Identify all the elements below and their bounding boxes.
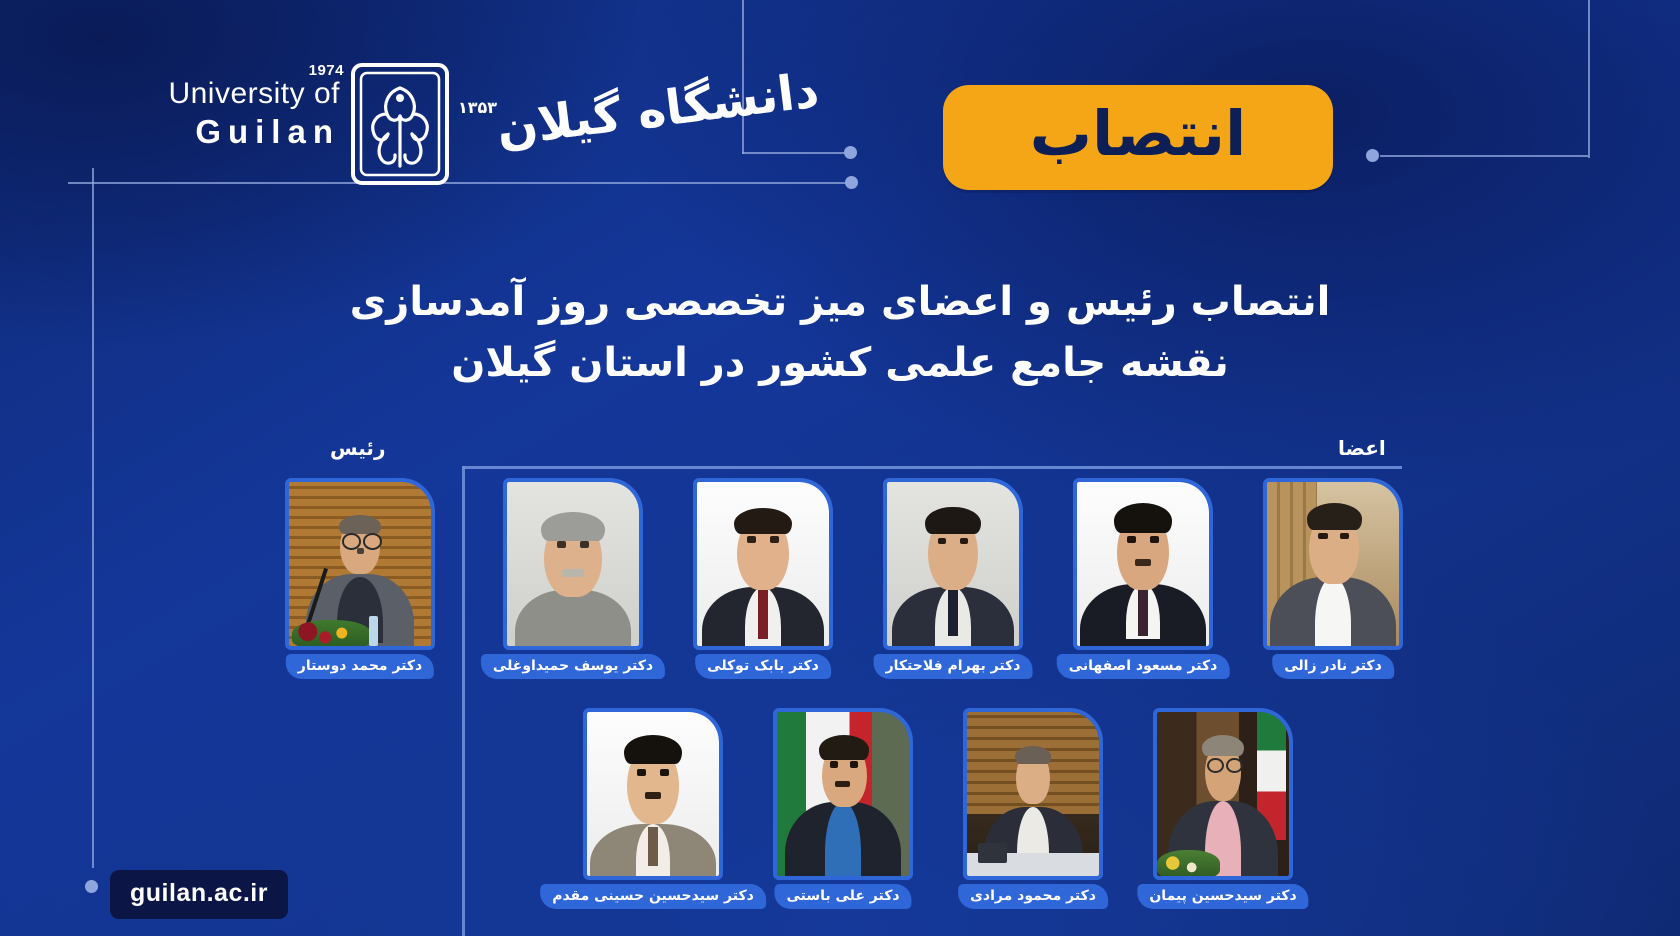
appointment-badge-label: انتصاب xyxy=(1030,103,1247,173)
logo-name-fa: دانشگاه گیلان xyxy=(494,62,822,157)
photo-frame xyxy=(1073,478,1213,650)
photo-frame xyxy=(693,478,833,650)
member-name: دکتر سیدحسین حسینی مقدم xyxy=(540,884,766,909)
member-photo xyxy=(1157,712,1289,876)
card-member-2[interactable]: دکتر بابک توکلی xyxy=(693,478,833,650)
photo-frame xyxy=(1263,478,1403,650)
deco-dot-a xyxy=(844,146,857,159)
card-member-8[interactable]: دکتر محمود مرادی xyxy=(963,708,1103,880)
photo-frame xyxy=(503,478,643,650)
chair-photo xyxy=(289,482,431,646)
photo-frame xyxy=(963,708,1103,880)
deco-line-top-right-horizontal xyxy=(742,152,846,154)
card-chair[interactable]: دکتر محمد دوستار xyxy=(285,478,435,650)
photo-frame xyxy=(583,708,723,880)
chair-group-label: رئیس xyxy=(330,436,385,460)
member-photo xyxy=(697,482,829,646)
logo-year-fa: ۱۳۵۳ xyxy=(458,98,497,117)
page-title-line1: انتصاب رئیس و اعضای میز تخصصی روز آمدساز… xyxy=(0,272,1680,333)
photo-frame xyxy=(1153,708,1293,880)
member-name: دکتر بابک توکلی xyxy=(695,654,831,679)
logo-persian-text: ۱۳۵۳ دانشگاه گیلان xyxy=(456,56,736,186)
guilan-emblem-icon xyxy=(350,62,450,186)
chair-name: دکتر محمد دوستار xyxy=(286,654,434,679)
member-name: دکتر بهرام فلاحتکار xyxy=(874,654,1033,679)
deco-line-far-right-horizontal xyxy=(1380,155,1588,157)
member-photo xyxy=(777,712,909,876)
deco-dot-b xyxy=(845,176,858,189)
deco-dot-c xyxy=(1366,149,1379,162)
logo-line2: Guilan xyxy=(150,113,340,151)
members-group-label: اعضا xyxy=(1338,436,1386,460)
member-photo xyxy=(967,712,1099,876)
member-name: دکتر یوسف حمیداوغلی xyxy=(481,654,665,679)
photo-frame xyxy=(773,708,913,880)
card-member-4[interactable]: دکتر مسعود اصفهانی xyxy=(1073,478,1213,650)
logo-english-text: 1974 University of Guilan xyxy=(150,78,340,150)
deco-dot-url xyxy=(85,880,98,893)
card-member-7[interactable]: دکتر علی باستی xyxy=(773,708,913,880)
page-title: انتصاب رئیس و اعضای میز تخصصی روز آمدساز… xyxy=(0,272,1680,394)
card-member-5[interactable]: دکتر نادر زالی xyxy=(1263,478,1403,650)
website-url-badge[interactable]: guilan.ac.ir xyxy=(110,870,288,919)
members-bracket-vertical xyxy=(462,466,465,936)
logo-year-en: 1974 xyxy=(309,62,344,79)
members-bracket-horizontal xyxy=(462,466,1402,469)
card-member-1[interactable]: دکتر یوسف حمیداوغلی xyxy=(503,478,643,650)
member-name: دکتر نادر زالی xyxy=(1272,654,1394,679)
poster-canvas: 1974 University of Guilan ۱۳۵۳ دانشگاه گ… xyxy=(0,0,1680,936)
member-photo xyxy=(887,482,1019,646)
university-logo: 1974 University of Guilan ۱۳۵۳ دانشگاه گ… xyxy=(150,60,730,190)
card-member-6[interactable]: دکتر سیدحسین حسینی مقدم xyxy=(583,708,723,880)
member-photo xyxy=(1267,482,1399,646)
card-member-3[interactable]: دکتر بهرام فلاحتکار xyxy=(883,478,1023,650)
appointment-badge: انتصاب xyxy=(943,85,1333,190)
logo-line1: University of xyxy=(150,78,340,110)
deco-line-far-right-vertical xyxy=(1588,0,1590,158)
member-photo xyxy=(1077,482,1209,646)
member-photo xyxy=(587,712,719,876)
photo-frame xyxy=(883,478,1023,650)
member-name: دکتر مسعود اصفهانی xyxy=(1057,654,1230,679)
member-photo xyxy=(507,482,639,646)
page-title-line2: نقشه جامع علمی کشور در استان گیلان xyxy=(0,333,1680,394)
member-name: دکتر سیدحسین پیمان xyxy=(1137,884,1308,909)
member-name: دکتر علی باستی xyxy=(774,884,911,909)
card-member-9[interactable]: دکتر سیدحسین پیمان xyxy=(1153,708,1293,880)
member-name: دکتر محمود مرادی xyxy=(958,884,1108,909)
photo-frame xyxy=(285,478,435,650)
